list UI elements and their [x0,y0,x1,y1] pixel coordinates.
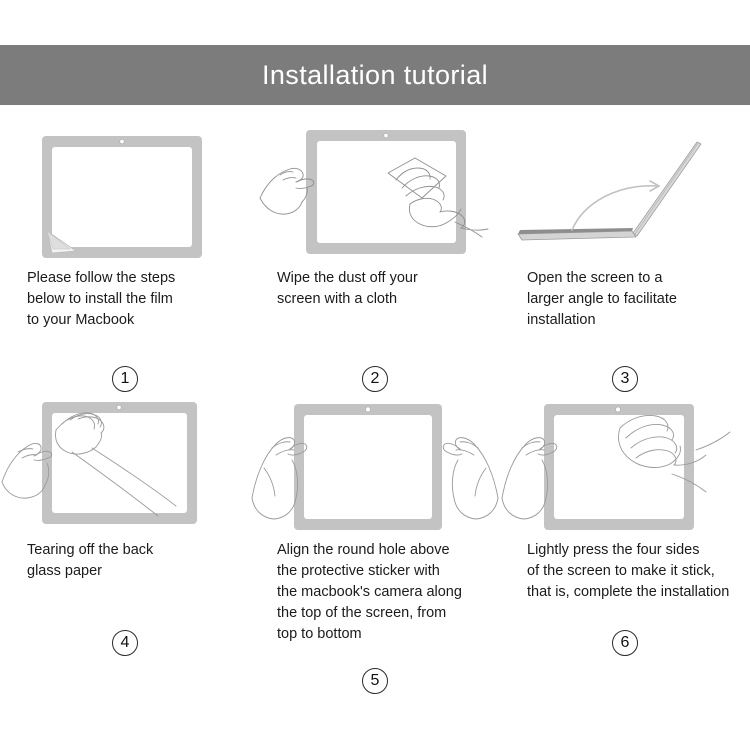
step-6-caption: Lightly press the four sides of the scre… [527,540,745,603]
step-2-badge-row: 2 [250,366,500,392]
tutorial-steps-grid: Please follow the steps below to install… [0,118,750,690]
step-5-illustration [250,390,500,540]
step-number-badge: 2 [362,366,388,392]
step-number-badge: 3 [612,366,638,392]
step-4-badge-row: 4 [0,630,250,656]
tutorial-step-1: Please follow the steps below to install… [0,118,250,390]
step-4-caption: Tearing off the back glass paper [27,540,232,582]
tutorial-step-3: Open the screen to a larger angle to fac… [500,118,750,390]
step-6-badge-row: 6 [500,630,750,656]
step-3-badge-row: 3 [500,366,750,392]
page-title: Installation tutorial [262,62,488,89]
step-number-badge: 6 [612,630,638,656]
step-3-illustration [500,118,750,268]
step-1-badge-row: 1 [0,366,250,392]
step-5-badge-row: 5 [250,668,500,694]
step-number-badge: 4 [112,630,138,656]
step-3-caption: Open the screen to a larger angle to fac… [527,268,745,331]
step-number-badge: 5 [362,668,388,694]
step-4-illustration [0,390,250,540]
tutorial-step-6: Lightly press the four sides of the scre… [500,390,750,690]
step-5-caption: Align the round hole above the protectiv… [277,540,482,645]
step-2-illustration [250,118,500,268]
step-1-illustration [0,118,250,268]
tutorial-step-2: Wipe the dust off your screen with a clo… [250,118,500,390]
step-6-illustration [500,390,750,540]
tutorial-step-5: Align the round hole above the protectiv… [250,390,500,690]
step-number-badge: 1 [112,366,138,392]
step-2-caption: Wipe the dust off your screen with a clo… [277,268,482,310]
header-banner: Installation tutorial [0,45,750,105]
step-1-caption: Please follow the steps below to install… [27,268,232,331]
tutorial-step-4: Tearing off the back glass paper 4 [0,390,250,690]
